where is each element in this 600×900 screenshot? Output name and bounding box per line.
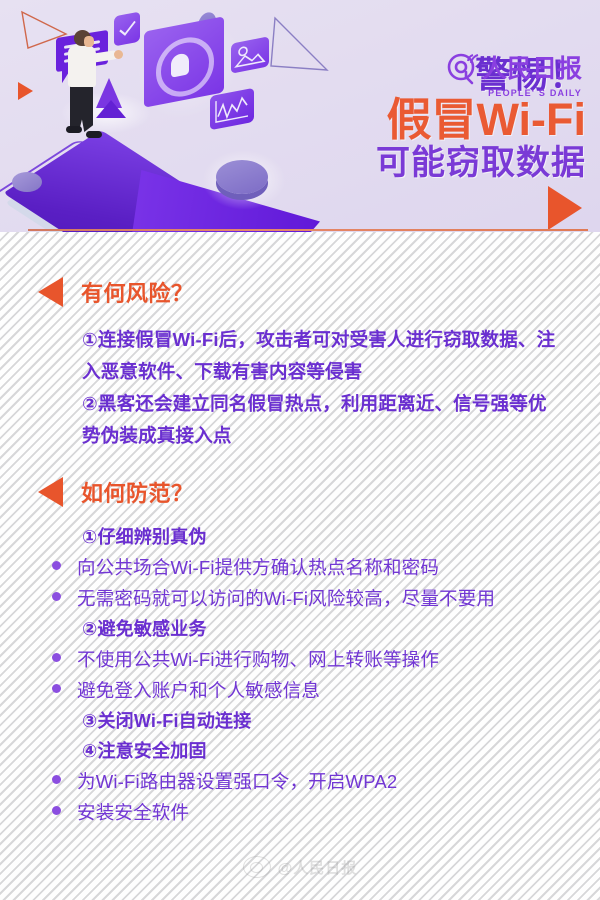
prevention-subhead-2: ②避免敏感业务: [82, 614, 600, 644]
header-banner: 人民日报 PEOPLE' S DAILY 警惕！ 假冒Wi-Fi 可能窃取数据: [0, 0, 600, 232]
bullet-icon: [52, 592, 61, 601]
section-risks-header: 有何风险？: [0, 276, 600, 308]
headline-line-3: 可能窃取数据: [376, 145, 586, 182]
outline-triangle-large-icon: [265, 14, 335, 76]
cone-bottom-icon: [96, 100, 126, 118]
list-item: 向公共场合Wi-Fi提供方确认热点名称和密码: [52, 552, 600, 583]
chart-panel-icon: [210, 88, 254, 131]
person-hand: [114, 50, 123, 59]
section-prevention-header: 如何防范？: [0, 476, 600, 508]
list-item-label: 为Wi-Fi路由器设置强口令，开启WPA2: [77, 766, 397, 797]
line-chart-icon: [210, 88, 254, 131]
list-item: 安装安全软件: [52, 797, 600, 828]
section-risks: 有何风险？ ①连接假冒Wi-Fi后，攻击者可对受害人进行窃取数据、注入恶意软件、…: [0, 276, 600, 452]
checkmark-panel-icon: [114, 11, 140, 46]
content-area: 有何风险？ ①连接假冒Wi-Fi后，攻击者可对受害人进行窃取数据、注入恶意软件、…: [0, 232, 600, 900]
list-item-label: 无需密码就可以访问的Wi-Fi风险较高，尽量不要用: [77, 583, 495, 614]
person-shoe-left: [66, 126, 82, 133]
list-item: 避免登入账户和个人敏感信息: [52, 675, 600, 706]
check-icon: [114, 11, 140, 46]
list-item: 不使用公共Wi-Fi进行购物、网上转账等操作: [52, 644, 600, 675]
list-item-label: 向公共场合Wi-Fi提供方确认热点名称和密码: [77, 552, 439, 583]
list-item: 为Wi-Fi路由器设置强口令，开启WPA2: [52, 766, 600, 797]
bullet-icon: [52, 775, 61, 784]
person-shoe-right: [86, 131, 102, 138]
risk-paragraph-2: ②黑客还会建立同名假冒热点，利用距离近、信号强等优势伪装成真接入点: [82, 388, 562, 452]
at-wifi-icon: [446, 52, 482, 86]
weibo-watermark: @人民日报: [0, 856, 600, 878]
list-item-label: 不使用公共Wi-Fi进行购物、网上转账等操作: [77, 644, 439, 675]
infographic-poster: 人民日报 PEOPLE' S DAILY 警惕！ 假冒Wi-Fi 可能窃取数据 …: [0, 0, 600, 900]
weibo-logo-icon: [243, 856, 271, 878]
cylinder-puck-icon: [216, 160, 268, 194]
accent-triangle-icon: [548, 186, 582, 230]
prevention-subhead-3: ③关闭Wi-Fi自动连接: [82, 706, 600, 736]
bullet-icon: [52, 684, 61, 693]
list-item: 无需密码就可以访问的Wi-Fi风险较高，尽量不要用: [52, 583, 600, 614]
section-risks-title: 有何风险？: [81, 276, 194, 308]
list-item-label: 避免登入账户和个人敏感信息: [77, 675, 320, 706]
brand-name-cn: 人民日报: [482, 57, 582, 82]
prevention-subhead-4: ④注意安全加固: [82, 736, 600, 766]
bullet-icon: [52, 653, 61, 662]
section-marker-triangle-icon: [38, 477, 63, 507]
photo-icon: [231, 36, 269, 73]
section-prevention: 如何防范？ ①仔细辨别真伪 向公共场合Wi-Fi提供方确认热点名称和密码 无需密…: [0, 476, 600, 828]
solid-triangle-small-icon: [18, 82, 33, 100]
image-panel-icon: [231, 36, 269, 73]
lock-icon: [171, 52, 189, 77]
outline-triangle-icon: [18, 8, 70, 52]
person-body: [68, 45, 96, 87]
person-face: [84, 36, 94, 47]
risk-paragraph-1: ①连接假冒Wi-Fi后，攻击者可对受害人进行窃取数据、注入恶意软件、下载有害内容…: [82, 324, 562, 388]
watermark-label: @人民日报: [278, 857, 358, 878]
brand-name-en: PEOPLE' S DAILY: [488, 88, 582, 98]
headline-line-2: 假冒Wi-Fi: [376, 96, 586, 143]
section-marker-triangle-icon: [38, 277, 63, 307]
bullet-icon: [52, 561, 61, 570]
brand-logo: 人民日报 PEOPLE' S DAILY: [446, 52, 582, 98]
prevention-subhead-1: ①仔细辨别真伪: [82, 522, 600, 552]
pebble-icon: [12, 172, 42, 192]
section-prevention-title: 如何防范？: [81, 476, 194, 508]
bullet-icon: [52, 806, 61, 815]
list-item-label: 安装安全软件: [77, 797, 189, 828]
header-divider: [28, 229, 588, 231]
